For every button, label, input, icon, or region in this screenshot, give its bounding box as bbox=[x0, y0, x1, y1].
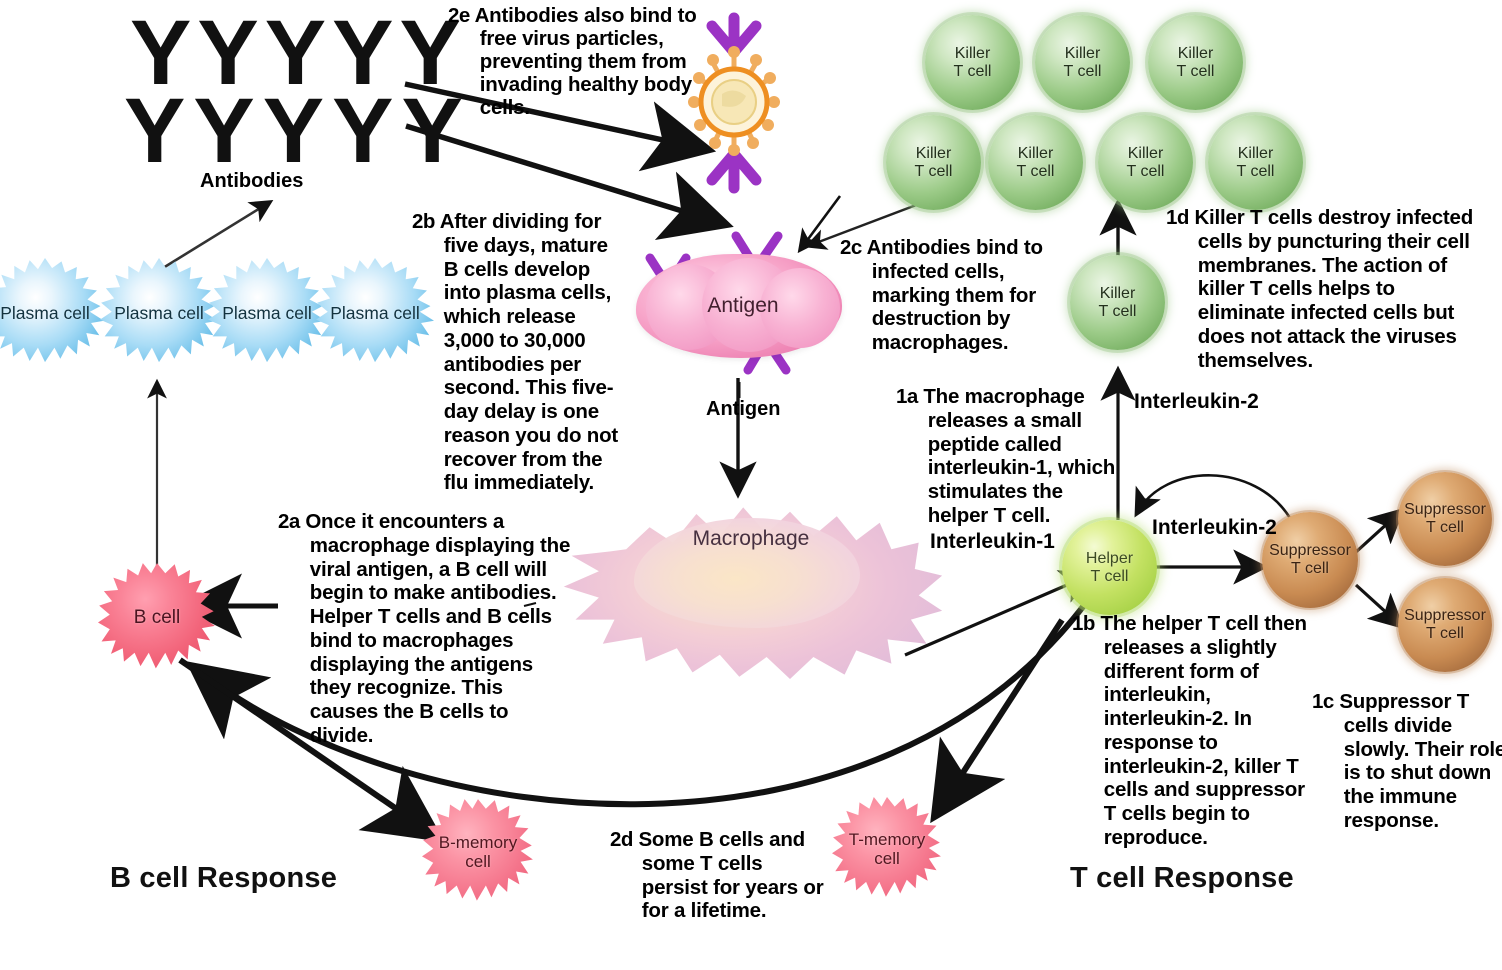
antibody-y-icon: Y bbox=[124, 88, 185, 175]
t-memory-cell-label: T-memory bbox=[849, 830, 926, 849]
killer-t-cell: KillerT cell bbox=[1098, 115, 1193, 210]
callout-1d-text: Killer T cells destroy infected cells by… bbox=[1194, 206, 1473, 372]
killer-t-cell-label: Killer bbox=[955, 45, 991, 62]
antigen-cell: Antigen bbox=[628, 228, 858, 378]
callout-2d: 2d Some B cells and some T cells persist… bbox=[610, 828, 832, 923]
callout-1a-number: 1a bbox=[896, 385, 918, 408]
callout-1d: 1d Killer T cells destroy infected cells… bbox=[1166, 206, 1486, 372]
callout-1b-text: The helper T cell then releases a slight… bbox=[1100, 612, 1306, 849]
t-memory-cell: T-memorycell bbox=[832, 796, 942, 902]
interleukin-1-label: Interleukin-1 bbox=[930, 530, 1055, 554]
callout-2a: 2a Once it encounters a macrophage displ… bbox=[278, 510, 572, 748]
b-cell-response-title: B cell Response bbox=[110, 862, 337, 895]
callout-2b-number: 2b bbox=[412, 210, 435, 233]
callout-2e-number: 2e bbox=[448, 4, 470, 27]
killer-t-cell-label: Killer bbox=[1065, 45, 1101, 62]
callout-1d-number: 1d bbox=[1166, 206, 1189, 229]
helper-t-cell-label: Helper bbox=[1086, 550, 1133, 567]
b-memory-cell-label: B-memory bbox=[439, 833, 517, 852]
plasma-cell: Plasma cell bbox=[208, 258, 326, 370]
macrophage-cell: Macrophage bbox=[556, 470, 946, 690]
killer-t-cell-single: KillerT cell bbox=[1070, 255, 1165, 350]
callout-1b-number: 1b bbox=[1072, 612, 1095, 635]
callout-2c: 2c Antibodies bind to infected cells, ma… bbox=[840, 236, 1072, 355]
killer-t-cell: KillerT cell bbox=[925, 15, 1020, 110]
killer-t-cell-label: Killer bbox=[1128, 145, 1164, 162]
callout-2c-number: 2c bbox=[840, 236, 862, 259]
plasma-cell-label: Plasma cell bbox=[330, 304, 419, 324]
plasma-cell: Plasma cell bbox=[0, 258, 104, 370]
callout-2c-text: Antibodies bind to infected cells, marki… bbox=[867, 236, 1043, 354]
b-cell-label: B cell bbox=[134, 607, 180, 628]
plasma-cell-label: Plasma cell bbox=[114, 304, 203, 324]
killer-t-cell-label: Killer bbox=[916, 145, 952, 162]
antigen-bottom-label: Antigen bbox=[706, 398, 780, 421]
t-cell-response-title: T cell Response bbox=[1070, 862, 1294, 895]
callout-2b-text: After dividing for five days, mature B c… bbox=[440, 210, 618, 494]
plasma-cell: Plasma cell bbox=[100, 258, 218, 370]
killer-t-cell: KillerT cell bbox=[886, 115, 981, 210]
killer-t-cell: KillerT cell bbox=[1035, 15, 1130, 110]
killer-t-cell: KillerT cell bbox=[1148, 15, 1243, 110]
b-cell: B cell bbox=[98, 562, 216, 674]
callout-1c-number: 1c bbox=[1312, 690, 1334, 713]
antibody-row-2: Y Y Y Y Y bbox=[124, 88, 463, 175]
macrophage-label: Macrophage bbox=[556, 527, 946, 551]
callout-2b: 2b After dividing for five days, mature … bbox=[412, 210, 624, 495]
callout-1c-text: Suppressor T cells divide slowly. Their … bbox=[1339, 690, 1502, 832]
killer-t-cell: KillerT cell bbox=[988, 115, 1083, 210]
callout-1a: 1a The macrophage releases a small pepti… bbox=[896, 385, 1120, 528]
callout-2d-number: 2d bbox=[610, 828, 633, 851]
suppressor-t-cell-label: Suppressor bbox=[1269, 542, 1351, 559]
killer-t-cell-label: Killer bbox=[1100, 285, 1136, 302]
killer-t-cell: KillerT cell bbox=[1208, 115, 1303, 210]
suppressor-t-cell-label: Suppressor bbox=[1404, 501, 1486, 518]
callout-2a-text: Once it encounters a macrophage displayi… bbox=[305, 510, 570, 747]
callout-2a-number: 2a bbox=[278, 510, 300, 533]
callout-2e-text: Antibodies also bind to free virus parti… bbox=[475, 4, 697, 119]
b-memory-cell: B-memorycell bbox=[422, 798, 534, 906]
plasma-cell-label: Plasma cell bbox=[222, 304, 311, 324]
antigen-label: Antigen bbox=[628, 294, 858, 318]
callout-1a-text: The macrophage releases a small peptide … bbox=[923, 385, 1115, 527]
killer-t-cell-label: Killer bbox=[1018, 145, 1054, 162]
suppressor-t-cell-lower: SuppressorT cell bbox=[1398, 578, 1492, 672]
interleukin-2-vertical-label: Interleukin-2 bbox=[1134, 390, 1259, 414]
antibodies-label: Antibodies bbox=[200, 170, 303, 193]
antibody-y-icon: Y bbox=[263, 88, 324, 175]
suppressor-t-cell-label: Suppressor bbox=[1404, 607, 1486, 624]
suppressor-t-cell-upper: SuppressorT cell bbox=[1398, 472, 1492, 566]
callout-2e: 2e Antibodies also bind to free virus pa… bbox=[448, 5, 712, 120]
helper-t-cell: HelperT cell bbox=[1062, 520, 1157, 615]
killer-t-cell-label: Killer bbox=[1238, 145, 1274, 162]
interleukin-2-arc-label: Interleukin-2 bbox=[1152, 516, 1277, 540]
plasma-cell-label: Plasma cell bbox=[0, 304, 89, 324]
callout-1c: 1c Suppressor T cells divide slowly. The… bbox=[1312, 690, 1502, 833]
antibody-y-icon: Y bbox=[193, 88, 254, 175]
immune-response-diagram: Y Y Y Y Y Y Y Y Y Y Antibodies bbox=[0, 0, 1502, 970]
callout-1b: 1b The helper T cell then releases a sli… bbox=[1072, 612, 1319, 850]
killer-t-cell-label: Killer bbox=[1178, 45, 1214, 62]
antibody-y-icon: Y bbox=[332, 88, 393, 175]
callout-2d-text: Some B cells and some T cells persist fo… bbox=[638, 828, 823, 922]
